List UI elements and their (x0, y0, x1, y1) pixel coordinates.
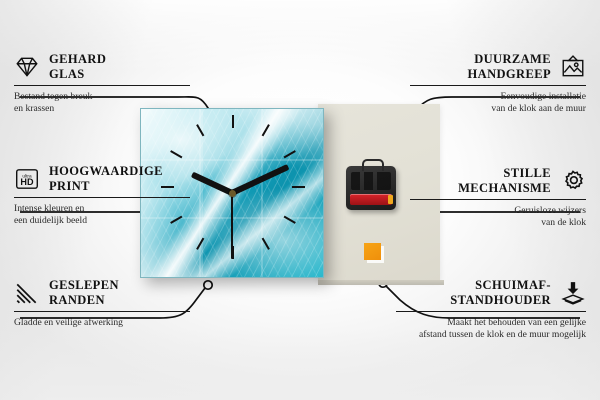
ultra-hd-icon: ultra HD (14, 166, 40, 192)
feature-title-2: MECHANISME (458, 181, 551, 196)
press-down-layers-icon (560, 280, 586, 306)
feature-title-2: GLAS (49, 67, 106, 82)
feature-desc-2: van de klok (410, 217, 586, 229)
clock-center-cap (229, 190, 236, 197)
infographic-canvas: GEHARD GLAS Bestand tegen breuk en krass… (0, 0, 600, 400)
divider (410, 85, 586, 86)
foam-spacer-pad (364, 243, 381, 260)
feature-title: DUURZAME (468, 52, 551, 67)
feature-tempered-glass: GEHARD GLAS Bestand tegen breuk en krass… (14, 52, 190, 115)
diamond-icon (14, 54, 40, 80)
battery (350, 194, 392, 205)
feature-desc: Eenvoudige installatie (410, 91, 586, 103)
feature-title-2: STANDHOUDER (450, 293, 551, 308)
divider (396, 311, 586, 312)
feature-silent-mechanism: STILLE MECHANISME Geruisloze wijzers van… (410, 166, 586, 229)
feature-title: SCHUIMAF- (450, 278, 551, 293)
feature-title: GEHARD (49, 52, 106, 67)
clock-second-hand (231, 193, 233, 259)
feature-desc: Gladde en veilige afwerking (14, 317, 190, 329)
movement-hook (362, 159, 384, 171)
feature-desc: Bestand tegen breuk (14, 91, 190, 103)
feature-desc-2: en krassen (14, 103, 190, 115)
beveled-edge-icon (14, 280, 40, 306)
feature-title: STILLE (458, 166, 551, 181)
feature-title: HOOGWAARDIGE (49, 164, 163, 179)
gear-icon (560, 168, 586, 194)
feature-title-2: HANDGREEP (468, 67, 551, 82)
feature-desc-2: een duidelijk beeld (14, 215, 190, 227)
feature-foam-spacer: SCHUIMAF- STANDHOUDER Maakt het behouden… (396, 278, 586, 341)
picture-frame-hanger-icon (560, 54, 586, 80)
feature-desc: Intense kleuren en (14, 203, 190, 215)
divider (14, 197, 190, 198)
ultra-hd-icon-large-label: HD (20, 177, 34, 187)
feature-title: GESLEPEN (49, 278, 119, 293)
divider (14, 311, 190, 312)
feature-desc-2: afstand tussen de klok en de muur mogeli… (396, 329, 586, 341)
feature-polished-edges: GESLEPEN RANDEN Gladde en veilige afwerk… (14, 278, 190, 329)
feature-desc: Geruisloze wijzers (410, 205, 586, 217)
movement-vents (351, 172, 391, 190)
feature-title-2: PRINT (49, 179, 163, 194)
feature-durable-hanger: DUURZAME HANDGREEP Eenvoudige installati… (410, 52, 586, 115)
feature-desc-2: van de klok aan de muur (410, 103, 586, 115)
feature-desc: Maakt het behouden van een gelijke (396, 317, 586, 329)
clock-movement (346, 166, 396, 210)
divider (410, 199, 586, 200)
feature-hd-print: ultra HD HOOGWAARDIGE PRINT Intense kleu… (14, 164, 190, 227)
feature-title-2: RANDEN (49, 293, 119, 308)
divider (14, 85, 190, 86)
